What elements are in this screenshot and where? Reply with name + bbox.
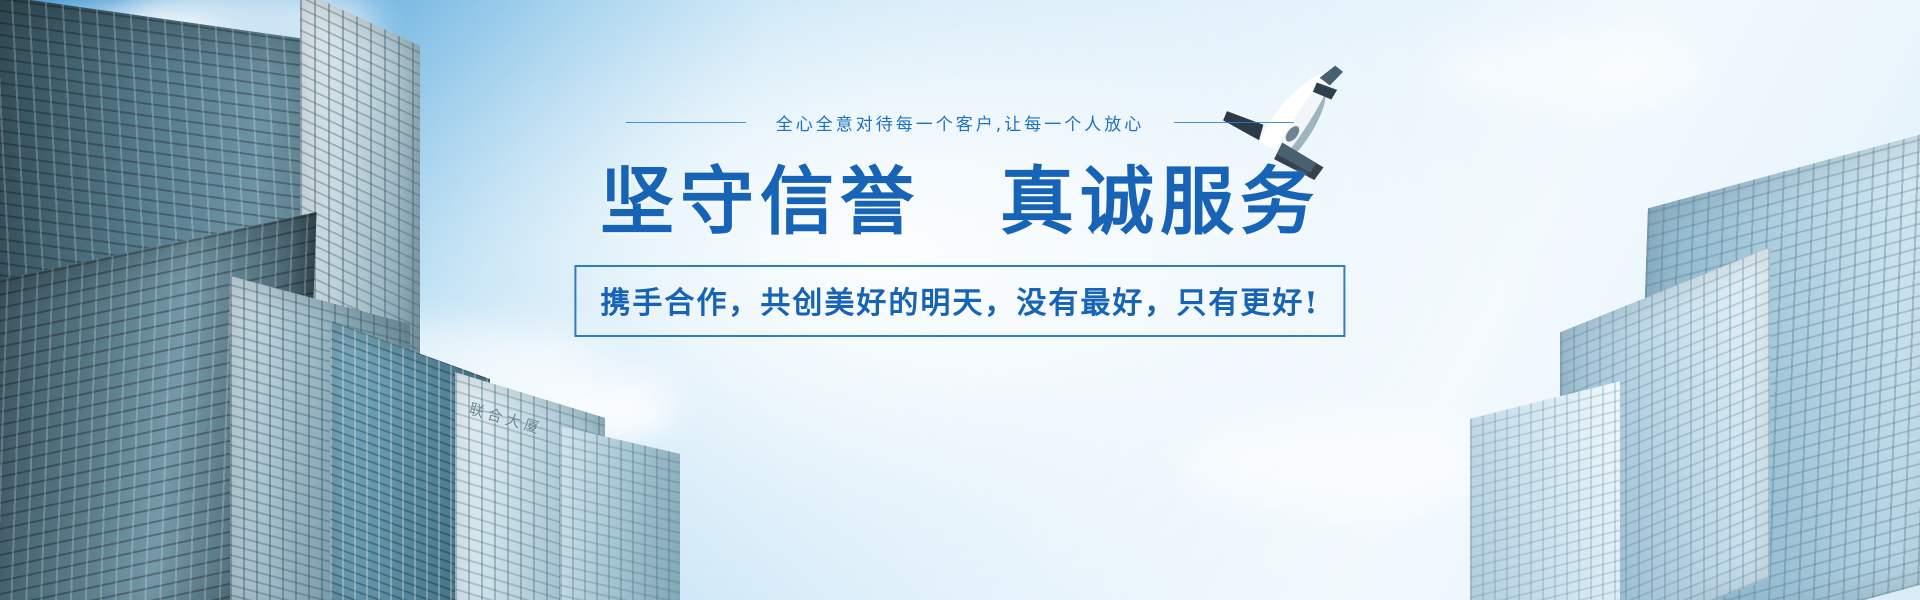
banner-headline: 坚守信誉 真诚服务 (600, 160, 1320, 244)
banner-subtitle: 携手合作，共创美好的明天，没有最好，只有更好! (600, 278, 1319, 322)
building-facade (1470, 381, 1620, 600)
cloud (1430, 30, 1710, 110)
building-right-low (1470, 381, 1620, 600)
rule-right (1174, 122, 1294, 123)
banner-tagline: 全心全意对待每一个客户,让每一个人放心 (776, 110, 1144, 135)
cloud (1180, 420, 1500, 510)
building-facade (560, 426, 680, 600)
building-mid-left-c (560, 426, 680, 600)
rule-left (626, 122, 746, 123)
tagline-row: 全心全意对待每一个客户,让每一个人放心 (626, 110, 1294, 135)
hero-banner: 联合大厦 全心全意对待每一个客户,让每一个人放心 坚守信誉 真诚服务 携手合作，… (0, 0, 1920, 600)
banner-subtitle-box: 携手合作，共创美好的明天，没有最好，只有更好! (574, 265, 1345, 337)
